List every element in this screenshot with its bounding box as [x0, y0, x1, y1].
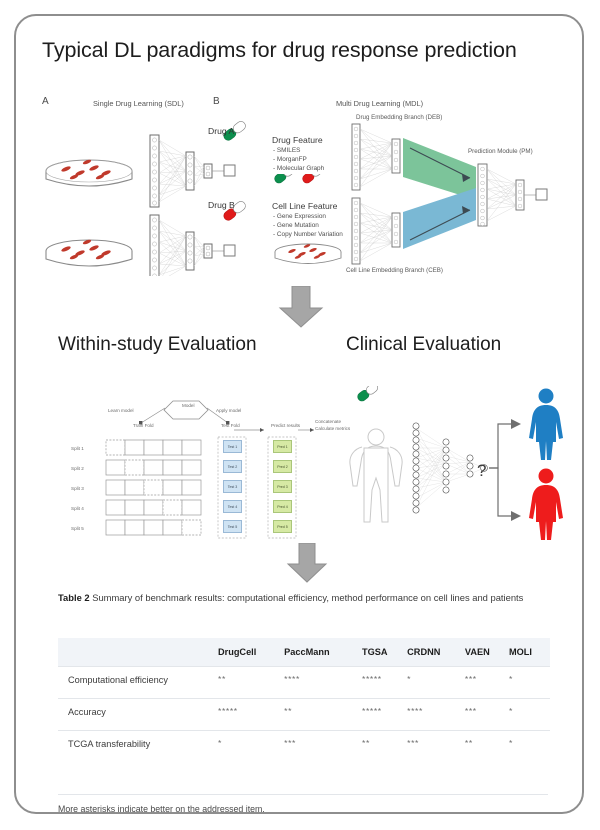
cv-predict-results-label: Predict results	[271, 423, 300, 428]
cv-model-label: Model	[182, 403, 195, 408]
ceb-to-pm-arrow	[403, 188, 476, 249]
mdl-diagram	[346, 122, 571, 267]
cell-line-petri-dish	[268, 240, 348, 272]
table-cell-1-1: **	[284, 699, 362, 731]
table-cell-2-3: ***	[407, 731, 465, 763]
sdl-diagram	[34, 111, 274, 276]
table-col-4: CRDNN	[407, 638, 465, 667]
table-row-label-1: Accuracy	[58, 699, 218, 731]
table-row: Computational efficiency ** **** ***** *…	[58, 667, 550, 699]
cv-pred-box-4: Pred 4	[273, 500, 292, 513]
cv-test-box-2: Test 2	[223, 460, 242, 473]
table-col-3: TGSA	[362, 638, 407, 667]
table-col-0	[58, 638, 218, 667]
neural-network-top	[150, 135, 235, 207]
flow-arrow-down-2	[286, 543, 328, 583]
fold-row-3	[106, 480, 201, 495]
table-cell-1-3: ****	[407, 699, 465, 731]
table-col-5: VAEN	[465, 638, 509, 667]
table-cell-0-0: **	[218, 667, 284, 699]
table-cell-0-1: ****	[284, 667, 362, 699]
fold-row-5	[106, 520, 201, 535]
patient-outline-icon	[350, 429, 402, 522]
petri-dish-top	[46, 159, 132, 186]
table-row-label-2: TCGA transferability	[58, 731, 218, 763]
table-cell-2-0: *	[218, 731, 284, 763]
table-cell-1-2: *****	[362, 699, 407, 731]
drug-feature-item-2: - Molecular Graph	[273, 165, 324, 172]
cv-pred-box-5: Pred 5	[273, 520, 292, 533]
drug-feature-title: Drug Feature	[272, 135, 323, 145]
cv-test-box-1: Test 1	[223, 440, 242, 453]
drug-a-label: Drug A	[208, 126, 234, 136]
neural-network-bottom	[150, 215, 235, 276]
cv-test-box-4: Test 4	[223, 500, 242, 513]
drug-embedding-branch	[352, 124, 400, 190]
table-row: Accuracy ***** ** ***** **** *** *	[58, 699, 550, 731]
drug-feature-capsules	[271, 174, 335, 200]
table-cell-2-1: ***	[284, 731, 362, 763]
table-cell-1-0: *****	[218, 699, 284, 731]
prediction-question-mark: ?	[477, 461, 486, 481]
cell-line-embedding-branch	[352, 198, 400, 264]
table-caption: Table 2 Summary of benchmark results: co…	[58, 590, 548, 605]
cv-test-box-3: Test 3	[223, 480, 242, 493]
prediction-branch-arrows	[489, 424, 514, 516]
table-header-row: DrugCell PaccMann TGSA CRDNN VAEN MOLI	[58, 638, 550, 667]
cv-apply-model-label: Apply model	[216, 408, 241, 413]
drug-feature-item-0: - SMILES	[273, 147, 300, 154]
drug-b-label: Drug B	[208, 200, 235, 210]
table-cell-2-5: *	[509, 731, 550, 763]
table-col-6: MOLI	[509, 638, 550, 667]
panel-b-caption: Multi Drug Learning (MDL)	[336, 99, 423, 108]
table-cell-0-5: *	[509, 667, 550, 699]
cell-feature-item-2: - Copy Number Variation	[273, 231, 343, 238]
table-cell-2-4: **	[465, 731, 509, 763]
table-footnote: More asterisks indicate better on the ad…	[58, 794, 548, 814]
cv-split-label-4: Split 4	[71, 506, 84, 511]
cv-test-box-5: Test 5	[223, 520, 242, 533]
table-col-1: DrugCell	[218, 638, 284, 667]
nonresponder-patient-icon	[529, 469, 563, 541]
cv-pred-box-1: Pred 1	[273, 440, 292, 453]
ceb-label: Cell Line Embedding Branch (CEB)	[346, 267, 443, 274]
cv-learn-model-label: Learn model	[108, 408, 134, 413]
table-cell-1-5: *	[509, 699, 550, 731]
cell-feature-item-1: - Gene Mutation	[273, 222, 319, 229]
panel-a-letter: A	[42, 96, 49, 107]
cv-split-label-3: Split 3	[71, 486, 84, 491]
cv-pred-box-2: Pred 2	[273, 460, 292, 473]
table-caption-text: Summary of benchmark results: computatio…	[92, 592, 523, 603]
cv-split-label-1: Split 1	[71, 446, 84, 451]
benchmark-table: DrugCell PaccMann TGSA CRDNN VAEN MOLI C…	[58, 638, 550, 762]
table-cell-0-3: *	[407, 667, 465, 699]
drug-feature-item-1: - MorganFP	[273, 156, 307, 163]
cv-train-fold-label: Train Fold	[133, 423, 154, 428]
cv-split-label-2: Split 2	[71, 466, 84, 471]
flow-arrow-down-1	[278, 286, 324, 328]
panel-b-letter: B	[213, 96, 220, 107]
cell-feature-item-0: - Gene Expression	[273, 213, 326, 220]
responder-patient-icon	[529, 389, 563, 461]
cv-pred-box-3: Pred 3	[273, 480, 292, 493]
prediction-module	[478, 164, 547, 226]
table-cell-1-4: ***	[465, 699, 509, 731]
table-col-2: PaccMann	[284, 638, 362, 667]
fold-row-1	[106, 440, 201, 455]
table-cell-2-2: **	[362, 731, 407, 763]
table-row: TCGA transferability * *** ** *** ** *	[58, 731, 550, 763]
panel-a-caption: Single Drug Learning (SDL)	[93, 99, 184, 108]
table-caption-label: Table 2	[58, 592, 90, 603]
clinical-drug-capsule	[356, 386, 379, 403]
table-row-label-0: Computational efficiency	[58, 667, 218, 699]
cv-split-label-5: Split 5	[71, 526, 84, 531]
cell-feature-title: Cell Line Feature	[272, 201, 337, 211]
figure-page: Typical DL paradigms for drug response p…	[14, 14, 584, 814]
figure-title: Typical DL paradigms for drug response p…	[42, 38, 517, 63]
cv-test-fold-label: Test Fold	[221, 423, 240, 428]
fold-row-4	[106, 500, 201, 515]
fold-row-2	[106, 460, 201, 475]
deb-label: Drug Embedding Branch (DEB)	[356, 114, 442, 121]
within-study-heading: Within-study Evaluation	[58, 334, 257, 356]
clinical-evaluation-diagram	[336, 386, 576, 546]
petri-dish-bottom	[46, 239, 132, 266]
clinical-heading: Clinical Evaluation	[346, 334, 501, 356]
table-cell-0-4: ***	[465, 667, 509, 699]
table-cell-0-2: *****	[362, 667, 407, 699]
deb-to-pm-arrow	[403, 138, 476, 200]
